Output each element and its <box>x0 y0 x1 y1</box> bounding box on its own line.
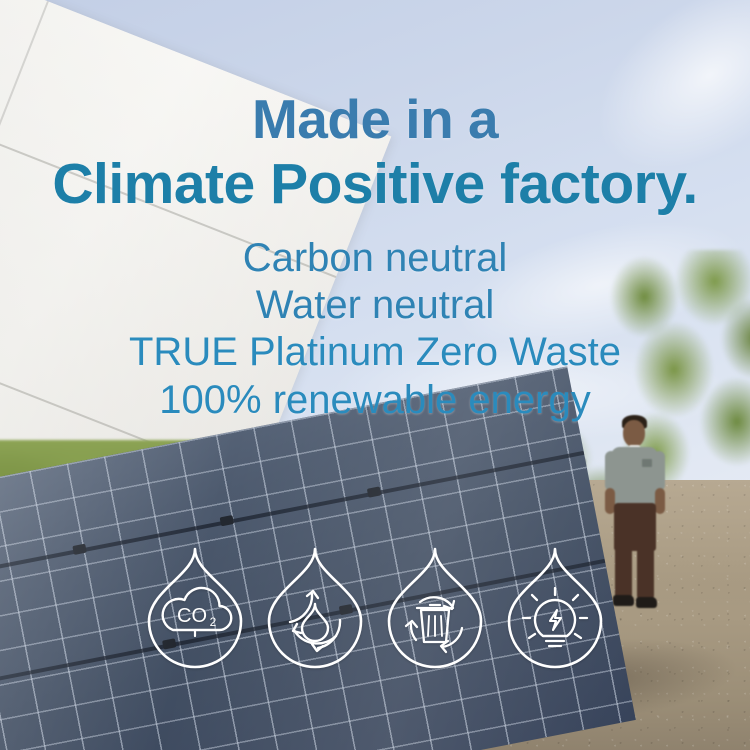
water-recycle-droplet-icon <box>255 540 375 675</box>
page-title: Made in a Climate Positive factory. <box>0 0 750 213</box>
headline-line-2: Climate Positive factory. <box>0 147 750 213</box>
claim-renewable-energy: 100% renewable energy <box>0 377 750 424</box>
co2-subscript: 2 <box>210 615 217 629</box>
headline-line-1: Made in a <box>0 0 750 147</box>
co2-label: CO <box>177 605 207 627</box>
renewable-energy-droplet-icon <box>495 540 615 675</box>
claim-zero-waste: TRUE Platinum Zero Waste <box>0 329 750 376</box>
headline-block: Made in a Climate Positive factory. Carb… <box>0 0 750 424</box>
claim-carbon-neutral: Carbon neutral <box>0 235 750 282</box>
marketing-banner: Made in a Climate Positive factory. Carb… <box>0 0 750 750</box>
zero-waste-droplet-icon <box>375 540 495 675</box>
co2-droplet-icon: CO 2 <box>135 540 255 675</box>
sustainability-icon-row: CO 2 <box>0 540 750 675</box>
claims-list: Carbon neutral Water neutral TRUE Platin… <box>0 213 750 424</box>
claim-water-neutral: Water neutral <box>0 282 750 329</box>
